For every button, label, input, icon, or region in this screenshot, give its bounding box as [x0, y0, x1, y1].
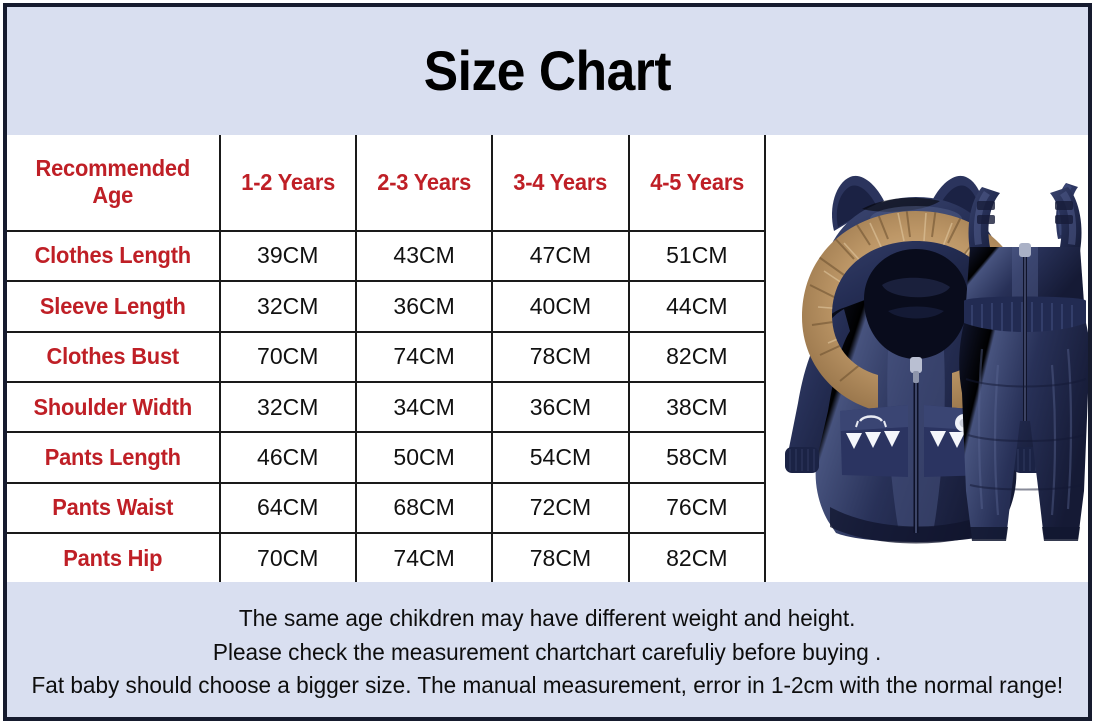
- left-pocket: [840, 405, 908, 477]
- table-row: Sleeve Length 32CM 36CM 40CM 44CM: [7, 281, 765, 331]
- measurement-value: 74CM: [359, 343, 489, 370]
- header-cell-size-2: 3-4 Years: [492, 135, 628, 231]
- footer-line-3: Fat baby should choose a bigger size. Th…: [32, 669, 1064, 702]
- header-cell-size-0: 1-2 Years: [220, 135, 356, 231]
- row-label: Clothes Bust: [14, 343, 211, 370]
- zipper-pull: [910, 357, 922, 373]
- row-label-cell: Pants Hip: [7, 533, 220, 582]
- header-age-line1: Recommended: [14, 155, 211, 182]
- measurement-cell: 36CM: [356, 281, 492, 331]
- header-cell-size-3: 4-5 Years: [629, 135, 765, 231]
- measurement-value: 46CM: [223, 444, 353, 471]
- measurement-value: 74CM: [359, 545, 489, 572]
- measurement-value: 58CM: [632, 444, 762, 471]
- row-label: Pants Waist: [14, 494, 211, 521]
- title-band: Size Chart: [7, 7, 1088, 135]
- size-table: Recommended Age 1-2 Years 2-3 Years 3-4 …: [7, 135, 766, 582]
- measurement-cell: 43CM: [356, 231, 492, 281]
- outer-frame: Size Chart Recommended: [3, 3, 1092, 721]
- measurement-cell: 78CM: [492, 332, 628, 382]
- measurement-cell: 40CM: [492, 281, 628, 331]
- measurement-value: 70CM: [223, 545, 353, 572]
- measurement-cell: 68CM: [356, 483, 492, 533]
- table-row: Clothes Bust 70CM 74CM 78CM 82CM: [7, 332, 765, 382]
- measurement-value: 72CM: [495, 494, 625, 521]
- measurement-value: 34CM: [359, 394, 489, 421]
- measurement-cell: 54CM: [492, 432, 628, 482]
- measurement-value: 47CM: [495, 242, 625, 269]
- measurement-cell: 47CM: [492, 231, 628, 281]
- measurement-cell: 78CM: [492, 533, 628, 582]
- measurement-value: 82CM: [632, 343, 762, 370]
- row-label-cell: Pants Waist: [7, 483, 220, 533]
- measurement-value: 39CM: [223, 242, 353, 269]
- measurement-value: 54CM: [495, 444, 625, 471]
- row-label-cell: Pants Length: [7, 432, 220, 482]
- measurement-cell: 50CM: [356, 432, 492, 482]
- header-cell-size-1: 2-3 Years: [356, 135, 492, 231]
- row-label-cell: Sleeve Length: [7, 281, 220, 331]
- measurement-value: 32CM: [223, 394, 353, 421]
- measurement-value: 36CM: [359, 293, 489, 320]
- header-size-label: 4-5 Years: [635, 169, 759, 196]
- measurement-cell: 74CM: [356, 533, 492, 582]
- hood-interior: [864, 249, 968, 359]
- table-header-row: Recommended Age 1-2 Years 2-3 Years 3-4 …: [7, 135, 765, 231]
- table-row: Pants Waist 64CM 68CM 72CM 76CM: [7, 483, 765, 533]
- measurement-value: 68CM: [359, 494, 489, 521]
- row-label: Sleeve Length: [14, 293, 211, 320]
- measurement-cell: 64CM: [220, 483, 356, 533]
- measurement-cell: 72CM: [492, 483, 628, 533]
- footer-note-band: The same age chikdren may have different…: [7, 582, 1088, 717]
- row-label-cell: Clothes Bust: [7, 332, 220, 382]
- measurement-value: 36CM: [495, 394, 625, 421]
- header-size-label: 1-2 Years: [226, 169, 350, 196]
- row-label-cell: Shoulder Width: [7, 382, 220, 432]
- measurement-value: 70CM: [223, 343, 353, 370]
- measurement-value: 40CM: [495, 293, 625, 320]
- measurement-cell: 34CM: [356, 382, 492, 432]
- measurement-cell: 58CM: [629, 432, 765, 482]
- measurement-value: 78CM: [495, 545, 625, 572]
- measurement-value: 82CM: [632, 545, 762, 572]
- measurement-cell: 74CM: [356, 332, 492, 382]
- row-label: Pants Hip: [14, 545, 211, 572]
- product-image-panel: [766, 135, 1088, 582]
- table-row: Shoulder Width 32CM 34CM 36CM 38CM: [7, 382, 765, 432]
- measurement-cell: 36CM: [492, 382, 628, 432]
- table-row: Pants Length 46CM 50CM 54CM 58CM: [7, 432, 765, 482]
- main-content: Recommended Age 1-2 Years 2-3 Years 3-4 …: [7, 135, 1088, 582]
- table-row: Clothes Length 39CM 43CM 47CM 51CM: [7, 231, 765, 281]
- header-cell-recommended-age: Recommended Age: [7, 135, 220, 231]
- measurement-cell: 82CM: [629, 332, 765, 382]
- footer-line-2: Please check the measurement chartchart …: [213, 636, 881, 669]
- measurement-value: 78CM: [495, 343, 625, 370]
- measurement-value: 50CM: [359, 444, 489, 471]
- measurement-value: 64CM: [223, 494, 353, 521]
- page-title: Size Chart: [424, 43, 671, 99]
- pants-group: [959, 187, 1088, 541]
- row-label: Pants Length: [14, 444, 211, 471]
- header-size-label: 2-3 Years: [362, 169, 486, 196]
- bib-snow-pants-illustration: [959, 183, 1088, 541]
- measurement-cell: 51CM: [629, 231, 765, 281]
- header-age-line2: Age: [14, 182, 211, 209]
- measurement-value: 43CM: [359, 242, 489, 269]
- measurement-cell: 46CM: [220, 432, 356, 482]
- measurement-cell: 70CM: [220, 332, 356, 382]
- row-label-cell: Clothes Length: [7, 231, 220, 281]
- row-label: Shoulder Width: [14, 394, 211, 421]
- table-row: Pants Hip 70CM 74CM 78CM 82CM: [7, 533, 765, 582]
- header-size-label: 3-4 Years: [499, 169, 623, 196]
- measurement-cell: 70CM: [220, 533, 356, 582]
- measurement-cell: 76CM: [629, 483, 765, 533]
- measurement-cell: 32CM: [220, 281, 356, 331]
- teeth: [846, 431, 900, 449]
- measurement-cell: 32CM: [220, 382, 356, 432]
- product-photo: [766, 135, 1088, 582]
- footer-line-1: The same age chikdren may have different…: [239, 602, 856, 635]
- measurement-value: 44CM: [632, 293, 762, 320]
- measurement-cell: 39CM: [220, 231, 356, 281]
- measurement-cell: 82CM: [629, 533, 765, 582]
- row-label: Clothes Length: [14, 242, 211, 269]
- measurement-value: 76CM: [632, 494, 762, 521]
- measurement-cell: 44CM: [629, 281, 765, 331]
- size-table-container: Recommended Age 1-2 Years 2-3 Years 3-4 …: [7, 135, 766, 582]
- measurement-cell: 38CM: [629, 382, 765, 432]
- measurement-value: 38CM: [632, 394, 762, 421]
- measurement-value: 51CM: [632, 242, 762, 269]
- size-chart-page: Size Chart Recommended: [0, 0, 1095, 724]
- pants-zipper-pull: [1019, 243, 1031, 257]
- measurement-value: 32CM: [223, 293, 353, 320]
